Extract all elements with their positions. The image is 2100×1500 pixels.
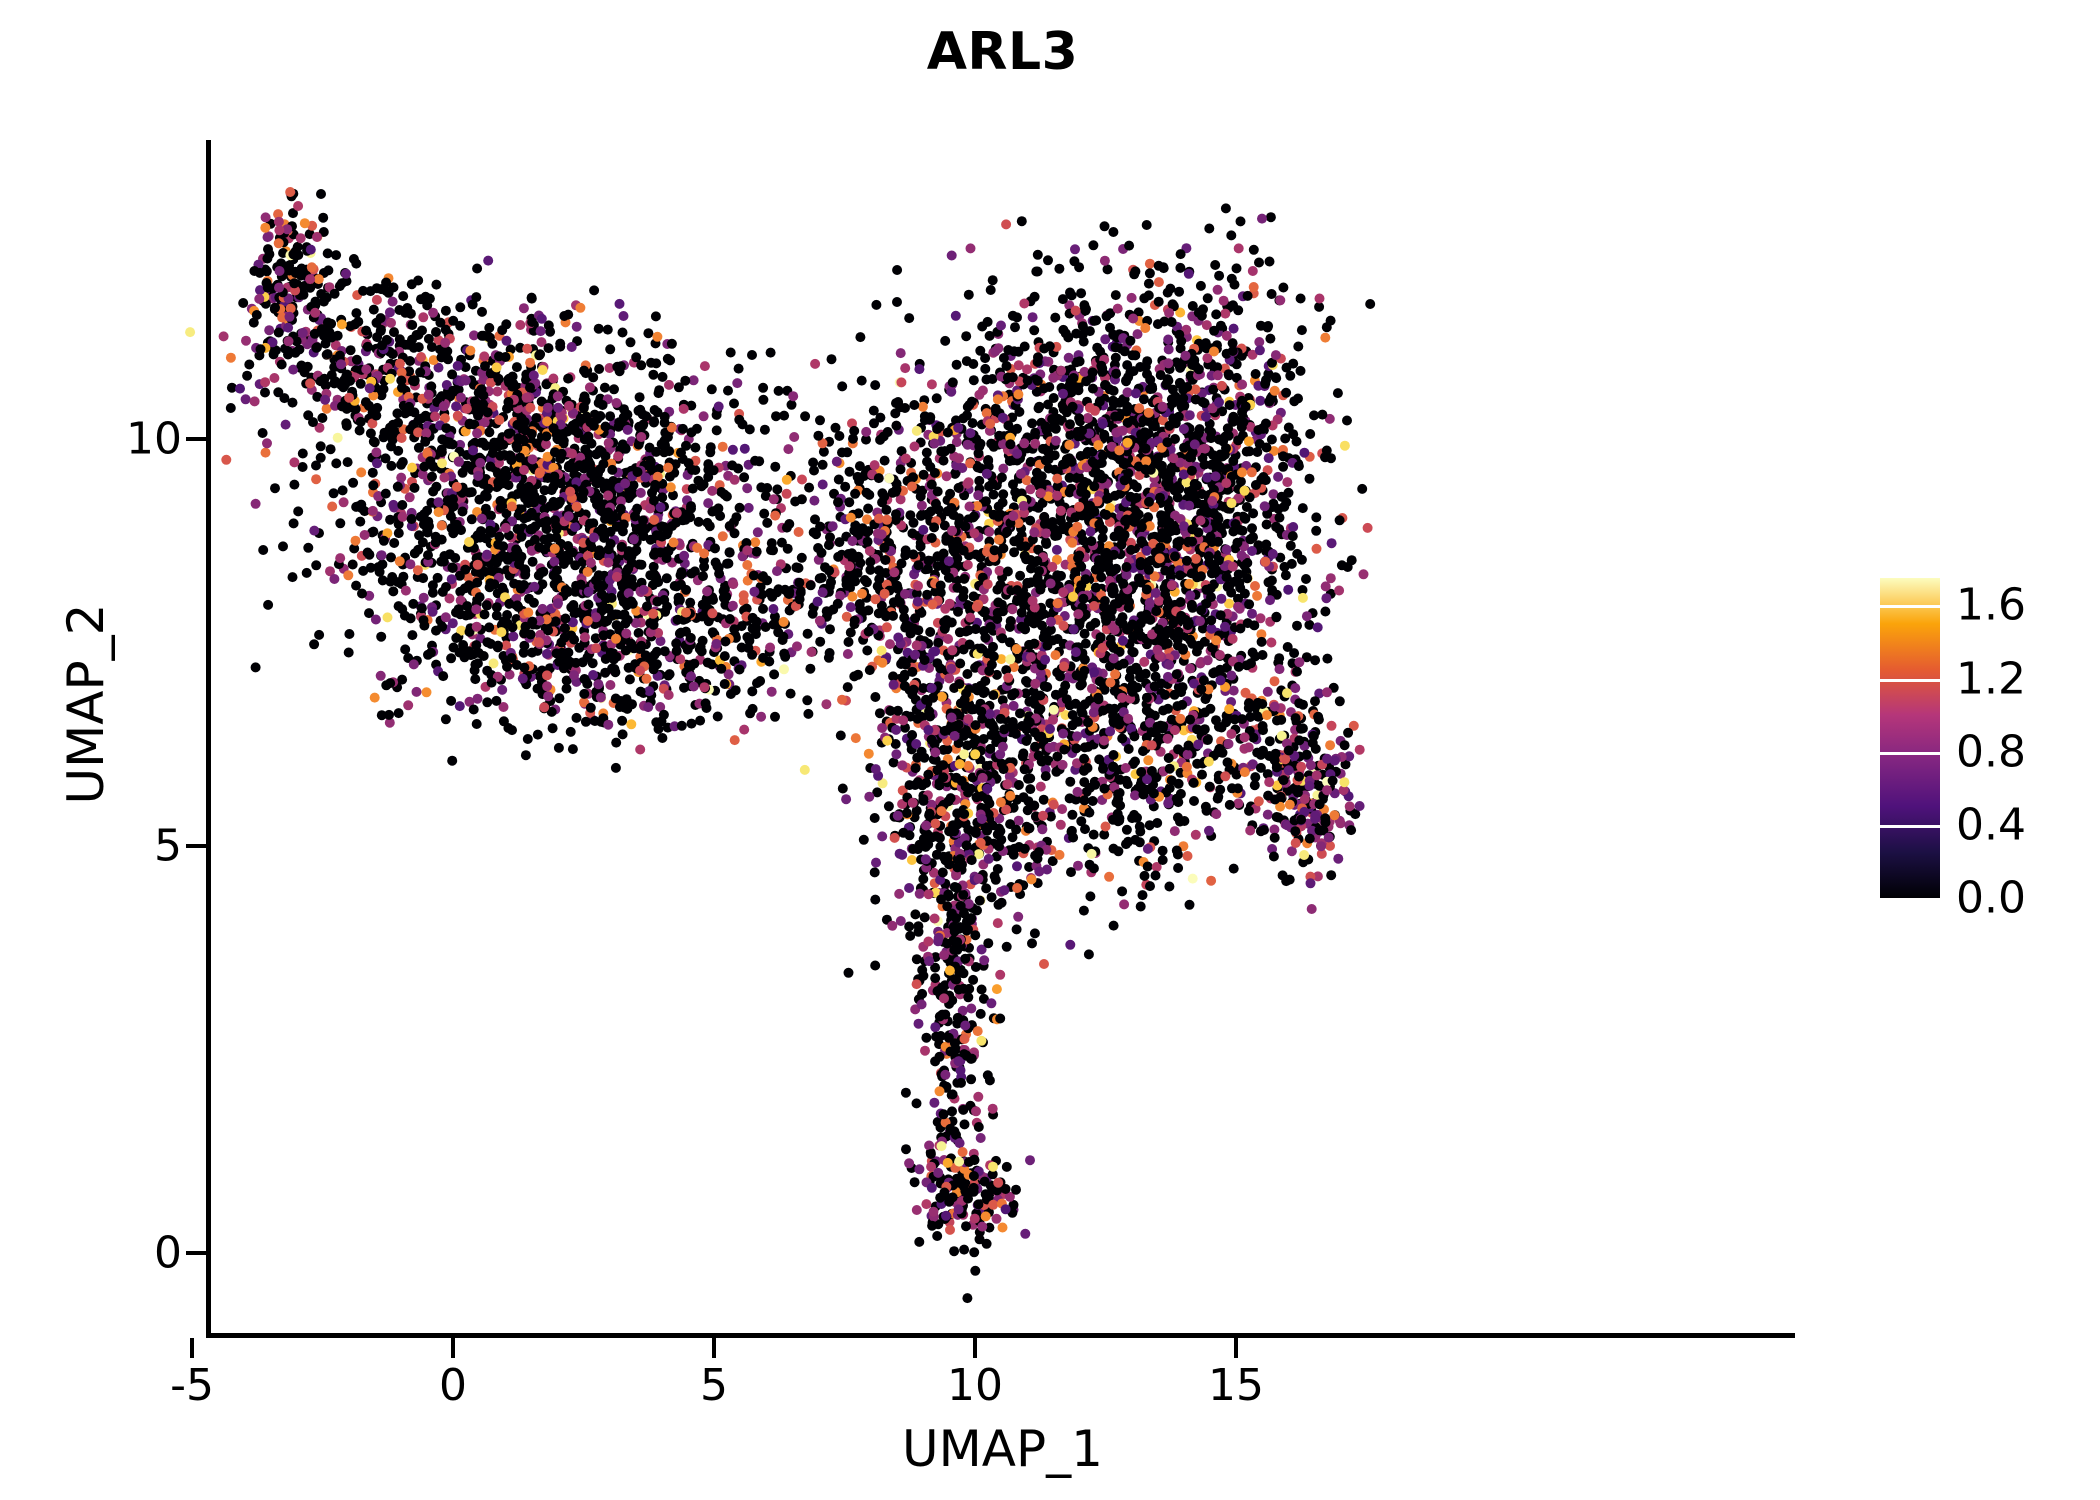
scatter-point bbox=[636, 432, 646, 442]
scatter-point bbox=[1163, 335, 1173, 345]
scatter-point bbox=[714, 402, 724, 412]
scatter-point bbox=[541, 431, 551, 441]
scatter-point bbox=[303, 410, 313, 420]
scatter-point bbox=[1252, 447, 1262, 457]
scatter-point bbox=[1165, 364, 1175, 374]
scatter-point bbox=[1227, 274, 1237, 284]
scatter-point bbox=[385, 307, 395, 317]
scatter-point bbox=[906, 458, 916, 468]
scatter-point bbox=[1101, 414, 1111, 424]
scatter-point bbox=[456, 355, 466, 365]
scatter-point bbox=[446, 511, 456, 521]
scatter-point bbox=[911, 474, 921, 484]
scatter-point bbox=[589, 421, 599, 431]
scatter-point bbox=[491, 538, 501, 548]
scatter-point bbox=[543, 452, 553, 462]
scatter-point bbox=[932, 599, 942, 609]
scatter-point bbox=[951, 415, 961, 425]
scatter-point bbox=[1239, 541, 1249, 551]
scatter-point bbox=[725, 614, 735, 624]
scatter-point bbox=[859, 587, 869, 597]
scatter-point bbox=[477, 455, 487, 465]
scatter-point bbox=[504, 599, 514, 609]
scatter-point bbox=[835, 591, 845, 601]
scatter-point bbox=[398, 353, 408, 363]
scatter-point bbox=[1122, 452, 1132, 462]
scatter-point bbox=[469, 543, 479, 553]
scatter-point bbox=[508, 631, 518, 641]
scatter-point bbox=[429, 403, 439, 413]
scatter-point bbox=[479, 331, 489, 341]
scatter-point bbox=[688, 484, 698, 494]
scatter-point bbox=[1080, 552, 1090, 562]
scatter-point bbox=[377, 710, 387, 720]
scatter-point bbox=[1205, 473, 1215, 483]
scatter-point bbox=[371, 374, 381, 384]
scatter-point bbox=[683, 613, 693, 623]
scatter-point bbox=[1267, 289, 1277, 299]
scatter-point bbox=[893, 566, 903, 576]
scatter-point bbox=[725, 521, 735, 531]
scatter-point bbox=[611, 634, 621, 644]
scatter-point bbox=[463, 572, 473, 582]
scatter-point bbox=[455, 609, 465, 619]
scatter-point bbox=[548, 548, 558, 558]
scatter-point bbox=[619, 404, 629, 414]
scatter-point bbox=[675, 595, 685, 605]
scatter-point bbox=[703, 658, 713, 668]
scatter-point bbox=[707, 486, 717, 496]
scatter-point bbox=[934, 676, 944, 686]
scatter-point bbox=[310, 308, 320, 318]
scatter-point bbox=[1281, 497, 1291, 507]
scatter-point bbox=[887, 565, 897, 575]
scatter-point bbox=[1041, 564, 1051, 574]
scatter-point bbox=[728, 577, 738, 587]
scatter-point bbox=[462, 562, 472, 572]
scatter-point bbox=[879, 543, 889, 553]
scatter-point bbox=[668, 518, 678, 528]
scatter-point bbox=[738, 551, 748, 561]
scatter-point bbox=[622, 468, 632, 478]
scatter-point bbox=[877, 646, 887, 656]
scatter-point bbox=[619, 597, 629, 607]
scatter-point bbox=[968, 513, 978, 523]
scatter-point bbox=[765, 647, 775, 657]
scatter-point bbox=[1144, 605, 1154, 615]
scatter-point bbox=[1022, 475, 1032, 485]
scatter-point bbox=[1196, 462, 1206, 472]
scatter-point bbox=[609, 654, 619, 664]
scatter-point bbox=[1165, 284, 1175, 294]
scatter-point bbox=[469, 452, 479, 462]
scatter-point bbox=[741, 538, 751, 548]
scatter-point bbox=[1006, 617, 1016, 627]
scatter-point bbox=[494, 458, 504, 468]
scatter-point bbox=[611, 763, 621, 773]
scatter-point bbox=[551, 626, 561, 636]
scatter-point bbox=[923, 561, 933, 571]
scatter-point bbox=[986, 407, 996, 417]
scatter-point bbox=[356, 379, 366, 389]
scatter-point bbox=[533, 730, 543, 740]
scatter-point bbox=[639, 430, 649, 440]
scatter-point bbox=[565, 487, 575, 497]
scatter-point bbox=[1113, 452, 1123, 462]
scatter-point bbox=[595, 545, 605, 555]
scatter-point bbox=[891, 398, 901, 408]
scatter-point bbox=[512, 443, 522, 453]
scatter-point bbox=[1134, 510, 1144, 520]
scatter-point bbox=[597, 604, 607, 614]
scatter-point bbox=[1107, 512, 1117, 522]
scatter-point bbox=[1103, 556, 1113, 566]
scatter-point bbox=[670, 581, 680, 591]
scatter-point bbox=[611, 652, 621, 662]
scatter-point bbox=[615, 702, 625, 712]
scatter-point bbox=[283, 346, 293, 356]
scatter-point bbox=[395, 480, 405, 490]
scatter-point bbox=[699, 562, 709, 572]
scatter-point bbox=[707, 592, 717, 602]
scatter-point bbox=[538, 684, 548, 694]
scatter-point bbox=[862, 514, 872, 524]
scatter-point bbox=[605, 344, 615, 354]
scatter-point bbox=[535, 608, 545, 618]
scatter-point bbox=[635, 644, 645, 654]
scatter-point bbox=[593, 469, 603, 479]
scatter-point bbox=[933, 618, 943, 628]
scatter-point bbox=[1137, 414, 1147, 424]
scatter-point bbox=[788, 585, 798, 595]
scatter-point bbox=[702, 703, 712, 713]
scatter-point bbox=[825, 522, 835, 532]
scatter-point bbox=[619, 412, 629, 422]
scatter-point bbox=[908, 549, 918, 559]
scatter-point bbox=[985, 331, 995, 341]
scatter-point bbox=[789, 432, 799, 442]
scatter-point bbox=[1192, 335, 1202, 345]
scatter-point bbox=[1245, 420, 1255, 430]
scatter-point bbox=[946, 444, 956, 454]
scatter-point bbox=[496, 627, 506, 637]
scatter-point bbox=[1128, 265, 1138, 275]
scatter-point bbox=[670, 509, 680, 519]
scatter-point bbox=[601, 479, 611, 489]
scatter-point bbox=[398, 512, 408, 522]
scatter-point bbox=[1170, 511, 1180, 521]
scatter-point bbox=[1041, 537, 1051, 547]
scatter-point bbox=[478, 406, 488, 416]
scatter-point bbox=[490, 545, 500, 555]
scatter-point bbox=[680, 558, 690, 568]
scatter-point bbox=[909, 615, 919, 625]
scatter-point bbox=[1153, 415, 1163, 425]
scatter-point bbox=[720, 600, 730, 610]
scatter-point bbox=[1305, 474, 1315, 484]
scatter-point bbox=[306, 248, 316, 258]
scatter-point bbox=[1006, 581, 1016, 591]
scatter-point bbox=[276, 324, 286, 334]
scatter-point bbox=[284, 233, 294, 243]
scatter-point bbox=[988, 475, 998, 485]
scatter-point bbox=[568, 600, 578, 610]
scatter-point bbox=[1127, 416, 1137, 426]
scatter-point bbox=[1236, 400, 1246, 410]
scatter-point bbox=[811, 529, 821, 539]
scatter-point bbox=[368, 408, 378, 418]
scatter-point bbox=[817, 573, 827, 583]
scatter-point bbox=[682, 611, 692, 621]
scatter-point bbox=[583, 449, 593, 459]
scatter-point bbox=[446, 696, 456, 706]
scatter-point bbox=[614, 422, 624, 432]
scatter-point bbox=[448, 316, 458, 326]
scatter-point bbox=[364, 608, 374, 618]
scatter-point bbox=[1030, 359, 1040, 369]
scatter-point bbox=[677, 721, 687, 731]
scatter-point bbox=[1240, 396, 1250, 406]
scatter-point bbox=[319, 374, 329, 384]
scatter-point bbox=[1013, 389, 1023, 399]
scatter-point bbox=[1026, 497, 1036, 507]
scatter-point bbox=[595, 394, 605, 404]
scatter-point bbox=[475, 380, 485, 390]
scatter-point bbox=[1125, 519, 1135, 529]
scatter-point bbox=[593, 593, 603, 603]
scatter-point bbox=[272, 262, 282, 272]
scatter-point bbox=[383, 363, 393, 373]
scatter-point bbox=[394, 347, 404, 357]
scatter-point bbox=[263, 276, 273, 286]
scatter-point bbox=[596, 693, 606, 703]
scatter-point bbox=[261, 299, 271, 309]
scatter-point bbox=[1188, 488, 1198, 498]
scatter-point bbox=[563, 555, 573, 565]
scatter-point bbox=[739, 472, 749, 482]
scatter-point bbox=[400, 553, 410, 563]
scatter-point bbox=[386, 318, 396, 328]
scatter-point bbox=[1298, 503, 1308, 513]
scatter-point bbox=[960, 572, 970, 582]
scatter-point bbox=[394, 708, 404, 718]
scatter-point bbox=[1088, 365, 1098, 375]
scatter-point bbox=[1183, 389, 1193, 399]
scatter-point bbox=[1030, 292, 1040, 302]
scatter-point bbox=[1061, 396, 1071, 406]
scatter-point bbox=[1212, 340, 1222, 350]
scatter-point bbox=[639, 585, 649, 595]
scatter-point bbox=[795, 594, 805, 604]
scatter-point bbox=[652, 407, 662, 417]
scatter-point bbox=[1122, 452, 1132, 462]
scatter-point bbox=[466, 624, 476, 634]
scatter-point bbox=[495, 356, 505, 366]
scatter-point bbox=[1153, 453, 1163, 463]
scatter-point bbox=[1228, 347, 1238, 357]
scatter-point bbox=[426, 648, 436, 658]
scatter-point bbox=[650, 606, 660, 616]
scatter-point bbox=[514, 459, 524, 469]
scatter-point bbox=[685, 605, 695, 615]
scatter-point bbox=[287, 315, 297, 325]
scatter-point bbox=[1095, 541, 1105, 551]
scatter-point bbox=[1214, 571, 1224, 581]
scatter-point bbox=[528, 557, 538, 567]
scatter-point bbox=[290, 348, 300, 358]
scatter-point bbox=[556, 615, 566, 625]
scatter-point bbox=[1157, 552, 1167, 562]
scatter-point bbox=[275, 233, 285, 243]
scatter-point bbox=[1027, 543, 1037, 553]
scatter-point bbox=[571, 300, 581, 310]
scatter-point bbox=[873, 550, 883, 560]
scatter-point bbox=[566, 519, 576, 529]
scatter-point bbox=[507, 653, 517, 663]
scatter-point bbox=[671, 506, 681, 516]
scatter-point bbox=[445, 334, 455, 344]
scatter-point bbox=[770, 612, 780, 622]
scatter-point bbox=[689, 682, 699, 692]
scatter-point bbox=[1191, 616, 1201, 626]
scatter-point bbox=[853, 670, 863, 680]
scatter-point bbox=[531, 387, 541, 397]
scatter-point bbox=[409, 432, 419, 442]
scatter-point bbox=[419, 615, 429, 625]
scatter-point bbox=[995, 408, 1005, 418]
scatter-point bbox=[855, 332, 865, 342]
scatter-point bbox=[316, 313, 326, 323]
scatter-point bbox=[1015, 376, 1025, 386]
scatter-point bbox=[768, 604, 778, 614]
scatter-point bbox=[608, 497, 618, 507]
scatter-point bbox=[1132, 526, 1142, 536]
scatter-point bbox=[460, 488, 470, 498]
scatter-point bbox=[675, 540, 685, 550]
scatter-point bbox=[627, 699, 637, 709]
scatter-point bbox=[364, 414, 374, 424]
scatter-point bbox=[1047, 610, 1057, 620]
scatter-point bbox=[1097, 480, 1107, 490]
scatter-point bbox=[361, 340, 371, 350]
scatter-point bbox=[1137, 726, 1147, 736]
scatter-point bbox=[1077, 511, 1087, 521]
scatter-point bbox=[621, 513, 631, 523]
scatter-point bbox=[1046, 494, 1056, 504]
scatter-point bbox=[1118, 595, 1128, 605]
scatter-point bbox=[729, 517, 739, 527]
scatter-point bbox=[1023, 443, 1033, 453]
scatter-point bbox=[1231, 400, 1241, 410]
scatter-point bbox=[1030, 502, 1040, 512]
scatter-point bbox=[684, 458, 694, 468]
scatter-point bbox=[1177, 360, 1187, 370]
scatter-point bbox=[1119, 478, 1129, 488]
scatter-point bbox=[497, 685, 507, 695]
scatter-point bbox=[1166, 508, 1176, 518]
scatter-point bbox=[342, 276, 352, 286]
scatter-point bbox=[512, 600, 522, 610]
scatter-point bbox=[342, 370, 352, 380]
scatter-point bbox=[552, 600, 562, 610]
scatter-point bbox=[979, 497, 989, 507]
scatter-point bbox=[920, 411, 930, 421]
scatter-point bbox=[597, 506, 607, 516]
scatter-point bbox=[386, 552, 396, 562]
scatter-point bbox=[1145, 375, 1155, 385]
scatter-point bbox=[587, 644, 597, 654]
scatter-point bbox=[602, 616, 612, 626]
scatter-point bbox=[1190, 361, 1200, 371]
scatter-point bbox=[526, 672, 536, 682]
scatter-point bbox=[582, 653, 592, 663]
scatter-point bbox=[253, 260, 263, 270]
scatter-point bbox=[1016, 524, 1026, 534]
scatter-point bbox=[367, 419, 377, 429]
scatter-point bbox=[900, 550, 910, 560]
scatter-point bbox=[1110, 375, 1120, 385]
scatter-point bbox=[585, 549, 595, 559]
scatter-point bbox=[499, 716, 509, 726]
scatter-point bbox=[462, 450, 472, 460]
scatter-point bbox=[650, 595, 660, 605]
scatter-point bbox=[898, 454, 908, 464]
scatter-point bbox=[579, 614, 589, 624]
scatter-point bbox=[704, 542, 714, 552]
scatter-point bbox=[742, 604, 752, 614]
scatter-point bbox=[507, 495, 517, 505]
scatter-point bbox=[847, 536, 857, 546]
scatter-point bbox=[429, 355, 439, 365]
scatter-point bbox=[1078, 484, 1088, 494]
scatter-point bbox=[639, 661, 649, 671]
scatter-point bbox=[1034, 527, 1044, 537]
scatter-point bbox=[527, 317, 537, 327]
scatter-point bbox=[579, 640, 589, 650]
scatter-point bbox=[651, 526, 661, 536]
scatter-point bbox=[1198, 535, 1208, 545]
scatter-point bbox=[394, 601, 404, 611]
scatter-point bbox=[584, 459, 594, 469]
scatter-point bbox=[1145, 259, 1155, 269]
scatter-point bbox=[1202, 537, 1212, 547]
scatter-point bbox=[893, 484, 903, 494]
scatter-point bbox=[548, 627, 558, 637]
scatter-point bbox=[512, 420, 522, 430]
scatter-point bbox=[449, 478, 459, 488]
scatter-point bbox=[563, 427, 573, 437]
scatter-point bbox=[1011, 585, 1021, 595]
scatter-point bbox=[904, 313, 914, 323]
scatter-point bbox=[475, 458, 485, 468]
scatter-point bbox=[667, 558, 677, 568]
scatter-point bbox=[471, 547, 481, 557]
scatter-point bbox=[392, 682, 402, 692]
scatter-point bbox=[990, 346, 1000, 356]
scatter-point bbox=[673, 615, 683, 625]
scatter-point bbox=[592, 692, 602, 702]
scatter-point bbox=[405, 398, 415, 408]
scatter-point bbox=[891, 487, 901, 497]
scatter-point bbox=[398, 395, 408, 405]
scatter-point bbox=[974, 581, 984, 591]
scatter-point bbox=[1065, 665, 1075, 675]
scatter-point bbox=[1190, 470, 1200, 480]
scatter-point bbox=[1109, 399, 1119, 409]
scatter-point bbox=[1086, 428, 1096, 438]
scatter-point bbox=[335, 518, 345, 528]
scatter-point bbox=[1154, 403, 1164, 413]
